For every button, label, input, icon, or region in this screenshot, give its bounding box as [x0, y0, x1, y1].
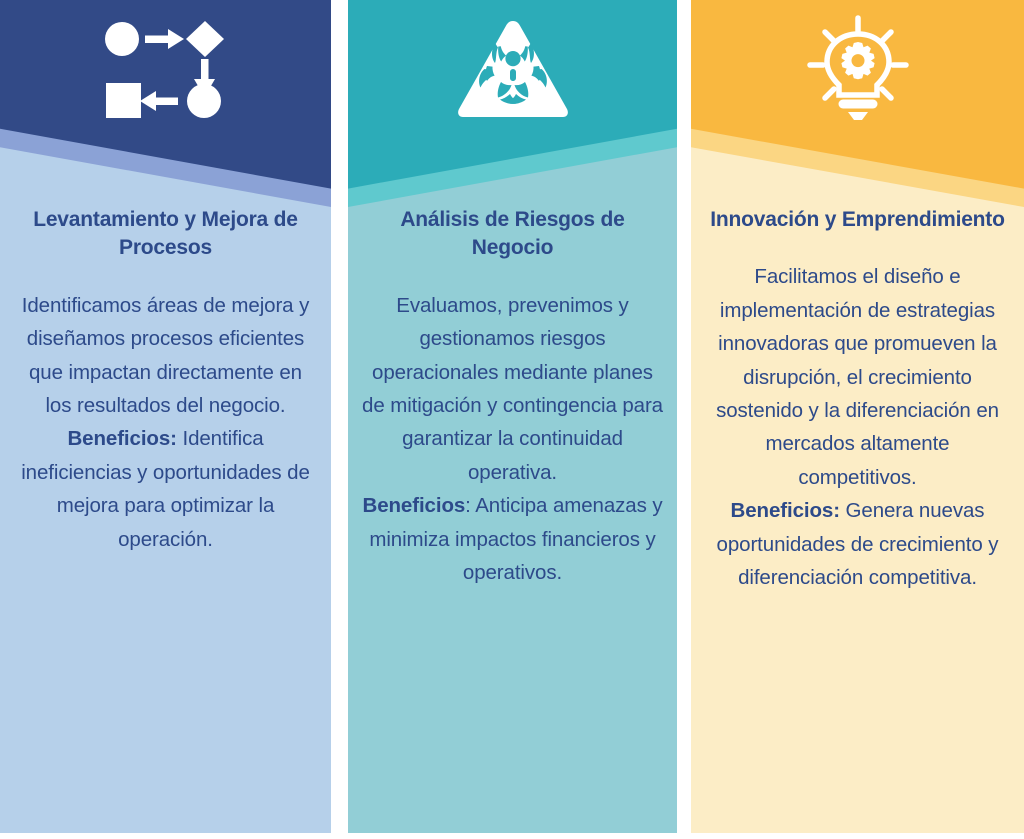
card-benefits-label: Beneficios: [363, 494, 466, 517]
process-flow-icon: [104, 19, 228, 119]
card-content: Análisis de Riesgos de Negocio Evaluamos…: [348, 206, 677, 589]
card-description: Identificamos áreas de mejora y diseñamo…: [14, 289, 317, 556]
card-description-text: Identificamos áreas de mejora y diseñamo…: [22, 294, 309, 417]
card-title: Levantamiento y Mejora de Procesos: [14, 206, 317, 263]
card-description: Evaluamos, prevenimos y gestionamos ries…: [362, 289, 663, 590]
card-title: Innovación y Emprendimiento: [705, 206, 1010, 234]
service-card-innovacion-y-emprendimiento[interactable]: Innovación y Emprendimiento Facilitamos …: [691, 0, 1024, 833]
card-icon-container: [691, 14, 1024, 124]
card-icon-container: [348, 14, 677, 124]
card-icon-container: [0, 14, 331, 124]
infographic-board: Levantamiento y Mejora de Procesos Ident…: [0, 0, 1024, 839]
card-content: Innovación y Emprendimiento Facilitamos …: [691, 206, 1024, 594]
service-card-analisis-de-riesgos-de-negocio[interactable]: Análisis de Riesgos de Negocio Evaluamos…: [348, 0, 677, 833]
service-card-levantamiento-y-mejora-de-procesos[interactable]: Levantamiento y Mejora de Procesos Ident…: [0, 0, 331, 833]
card-description-text: Facilitamos el diseño e implementación d…: [716, 265, 999, 488]
card-title: Análisis de Riesgos de Negocio: [362, 206, 663, 263]
card-benefits-label: Beneficios:: [731, 499, 840, 522]
lightbulb-gear-icon: [802, 13, 914, 125]
card-description: Facilitamos el diseño e implementación d…: [705, 260, 1010, 594]
biohazard-warning-icon: [454, 17, 572, 121]
card-content: Levantamiento y Mejora de Procesos Ident…: [0, 206, 331, 556]
card-description-text: Evaluamos, prevenimos y gestionamos ries…: [362, 294, 663, 484]
card-benefits-label: Beneficios:: [67, 427, 176, 450]
